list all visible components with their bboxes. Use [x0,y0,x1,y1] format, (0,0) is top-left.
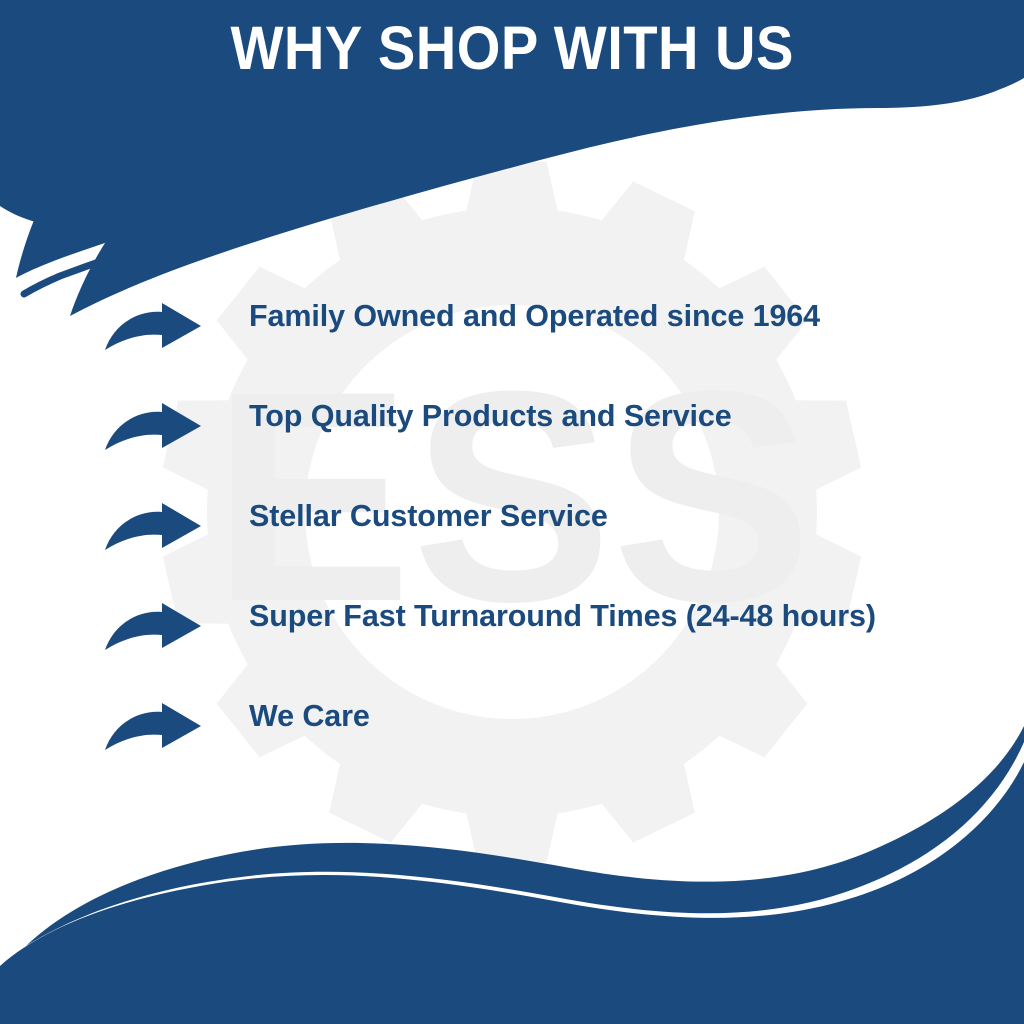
curved-arrow-icon [104,302,202,352]
benefit-item: We Care [0,696,1024,796]
curved-arrow-icon [104,402,202,452]
infographic-canvas: ESS WHY SHOP WITH US Family Owned and Op… [0,0,1024,1024]
benefit-item: Stellar Customer Service [0,496,1024,596]
gear-teeth-icon [468,180,556,244]
benefit-item: Top Quality Products and Service [0,396,1024,496]
benefit-label: Super Fast Turnaround Times (24-48 hours… [249,596,876,636]
benefits-list: Family Owned and Operated since 1964 Top… [0,296,1024,796]
benefit-label: Family Owned and Operated since 1964 [249,296,820,336]
benefit-label: Stellar Customer Service [249,496,608,536]
page-title: WHY SHOP WITH US [0,8,1024,88]
curved-arrow-icon [104,502,202,552]
benefit-item: Family Owned and Operated since 1964 [0,296,1024,396]
page-title-text: WHY SHOP WITH US [230,18,793,79]
bottom-wave-shape [0,762,1024,1024]
curved-arrow-icon [104,702,202,752]
benefit-label: We Care [249,696,370,736]
benefit-label: Top Quality Products and Service [249,396,732,436]
benefit-item: Super Fast Turnaround Times (24-48 hours… [0,596,1024,696]
curved-arrow-icon [104,602,202,652]
